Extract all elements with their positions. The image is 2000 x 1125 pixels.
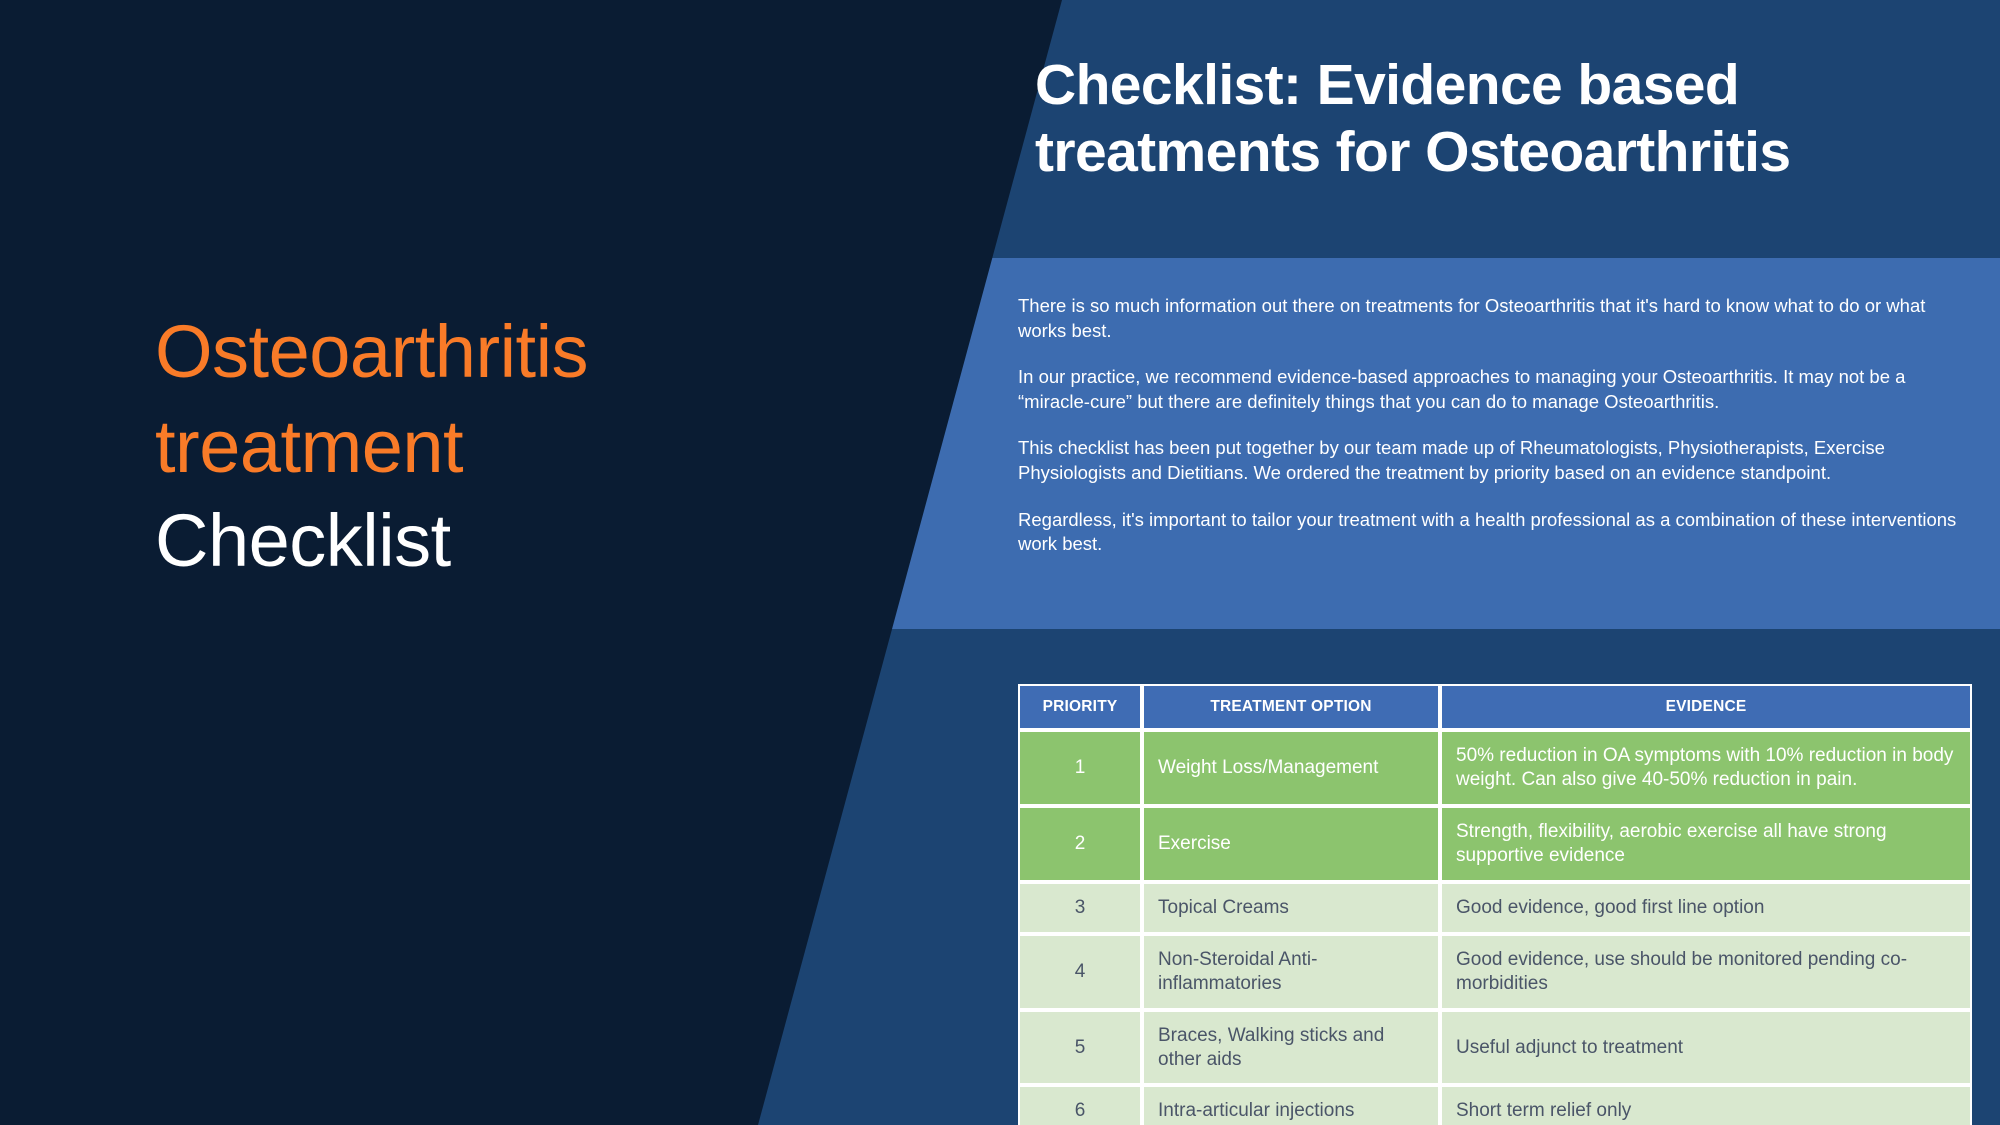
slide-canvas: Osteoarthritis treatment Checklist Check… [0,0,2000,1125]
cell-priority: 4 [1018,934,1142,1010]
cell-evidence: Good evidence, good first line option [1440,882,1972,934]
cell-treatment: Exercise [1142,806,1440,882]
checklist-table: PRIORITY TREATMENT OPTION EVIDENCE 1 Wei… [1018,684,1972,1125]
cell-evidence: Useful adjunct to treatment [1440,1010,1972,1086]
cell-evidence: Good evidence, use should be monitored p… [1440,934,1972,1010]
column-header-priority: PRIORITY [1018,684,1142,730]
document-title: Checklist: Evidence based treatments for… [1035,52,2000,187]
hero-line-1: Osteoarthritis [155,305,795,400]
intro-paragraph-1: There is so much information out there o… [1018,294,1978,343]
checklist-table-body: 1 Weight Loss/Management 50% reduction i… [1018,730,1972,1125]
cell-priority: 3 [1018,882,1142,934]
intro-paragraph-4: Regardless, it's important to tailor you… [1018,508,1978,557]
table-row: 2 Exercise Strength, flexibility, aerobi… [1018,806,1972,882]
intro-paragraph-3: This checklist has been put together by … [1018,436,1978,485]
cell-priority: 5 [1018,1010,1142,1086]
cell-treatment: Braces, Walking sticks and other aids [1142,1010,1440,1086]
checklist-table-wrapper: PRIORITY TREATMENT OPTION EVIDENCE 1 Wei… [1018,684,1972,1125]
column-header-evidence: EVIDENCE [1440,684,1972,730]
cell-evidence: Short term relief only [1440,1085,1972,1125]
cell-treatment: Non-Steroidal Anti-inflammatories [1142,934,1440,1010]
table-row: 4 Non-Steroidal Anti-inflammatories Good… [1018,934,1972,1010]
cell-evidence: Strength, flexibility, aerobic exercise … [1440,806,1972,882]
cell-treatment: Intra-articular injections [1142,1085,1440,1125]
intro-text-block: There is so much information out there o… [1018,294,1978,557]
cell-treatment: Weight Loss/Management [1142,730,1440,806]
cell-evidence: 50% reduction in OA symptoms with 10% re… [1440,730,1972,806]
column-header-treatment: TREATMENT OPTION [1142,684,1440,730]
document-title-line-1: Checklist: Evidence based [1035,52,2000,119]
hero-line-2: treatment [155,400,795,495]
table-row: 1 Weight Loss/Management 50% reduction i… [1018,730,1972,806]
table-row: 6 Intra-articular injections Short term … [1018,1085,1972,1125]
cell-priority: 6 [1018,1085,1142,1125]
hero-title: Osteoarthritis treatment Checklist [155,305,795,589]
cell-priority: 1 [1018,730,1142,806]
document-title-line-2: treatments for Osteoarthritis [1035,119,2000,186]
table-header-row: PRIORITY TREATMENT OPTION EVIDENCE [1018,684,1972,730]
cell-treatment: Topical Creams [1142,882,1440,934]
table-row: 5 Braces, Walking sticks and other aids … [1018,1010,1972,1086]
cell-priority: 2 [1018,806,1142,882]
intro-paragraph-2: In our practice, we recommend evidence-b… [1018,365,1978,414]
hero-line-3: Checklist [155,494,795,589]
table-row: 3 Topical Creams Good evidence, good fir… [1018,882,1972,934]
